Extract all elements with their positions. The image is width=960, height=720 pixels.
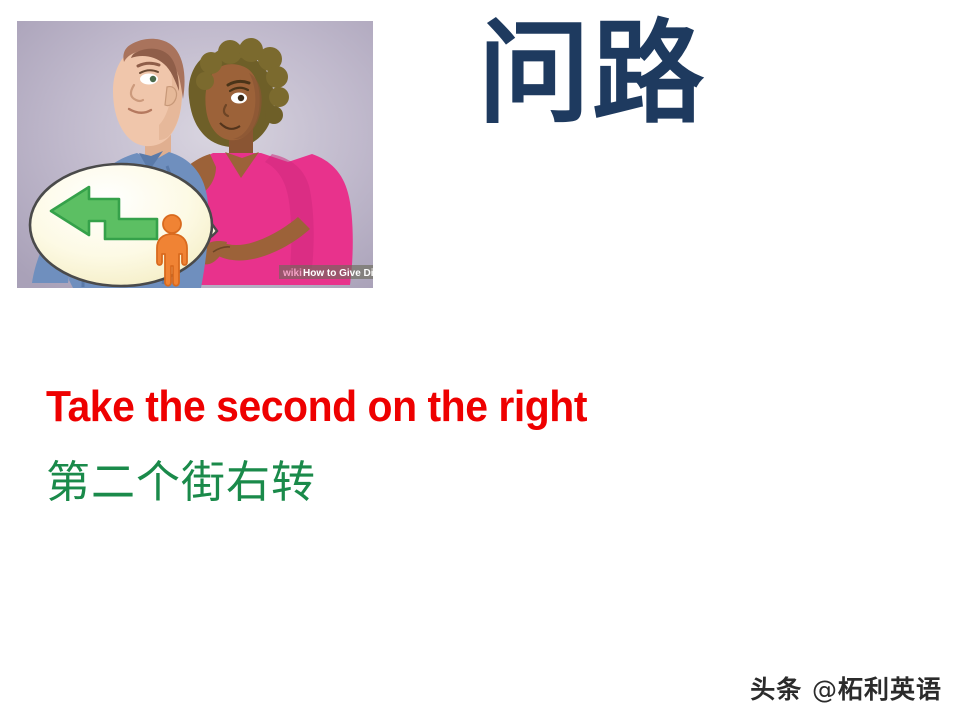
channel-watermark: 头条 @柘利英语 xyxy=(750,670,942,706)
illustration-svg: wiki How to Give Directions xyxy=(17,21,373,288)
page-title: 问路 xyxy=(478,8,706,140)
english-sentence: Take the second on the right xyxy=(46,382,587,432)
chinese-translation: 第二个街右转 xyxy=(46,446,316,510)
wikihow-prefix: wiki xyxy=(282,268,302,279)
watermark-account: 柘利英语 xyxy=(838,675,942,704)
wikihow-watermark: wiki How to Give Directions xyxy=(279,265,373,279)
wikihow-title: How to Give Directions xyxy=(303,268,373,279)
watermark-platform: 头条 xyxy=(750,675,802,704)
asking-for-directions-illustration: wiki How to Give Directions xyxy=(17,21,373,288)
watermark-at-icon: @ xyxy=(812,675,838,704)
